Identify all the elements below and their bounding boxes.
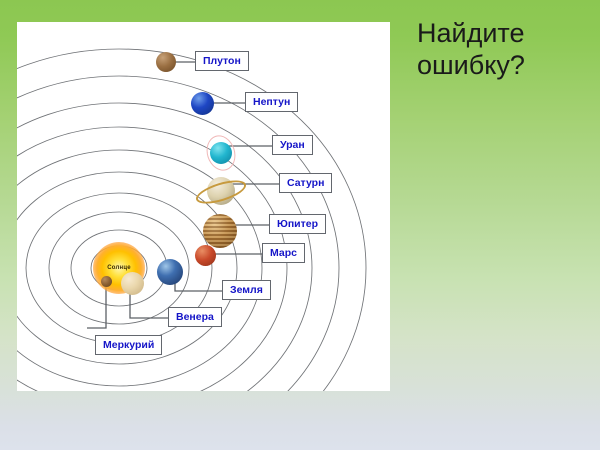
planet-pluto-icon <box>156 52 176 72</box>
label-venus: Венера <box>168 307 222 327</box>
orbit-rings-svg <box>17 22 390 391</box>
solar-system-diagram: Солнце Плутон Нептун Уран Сатурн Юпитер … <box>17 22 390 391</box>
planet-venus-icon <box>121 272 144 295</box>
label-mars: Марс <box>262 243 305 263</box>
planet-earth-icon <box>157 259 183 285</box>
label-uranus: Уран <box>272 135 313 155</box>
label-earth: Земля <box>222 280 271 300</box>
label-mercury: Меркурий <box>95 335 162 355</box>
slide-canvas: Солнце Плутон Нептун Уран Сатурн Юпитер … <box>0 0 600 450</box>
label-saturn: Сатурн <box>279 173 332 193</box>
planet-mercury-icon <box>101 276 112 287</box>
planet-neptune-icon <box>191 92 214 115</box>
sun-label: Солнце <box>107 265 131 271</box>
label-neptune: Нептун <box>245 92 298 112</box>
label-pluto: Плутон <box>195 51 249 71</box>
page-title: Найдите ошибку? <box>417 18 592 82</box>
label-jupiter: Юпитер <box>269 214 326 234</box>
planet-jupiter-icon <box>203 214 237 248</box>
planet-mars-icon <box>195 245 216 266</box>
leader-line-mercury <box>87 286 106 328</box>
